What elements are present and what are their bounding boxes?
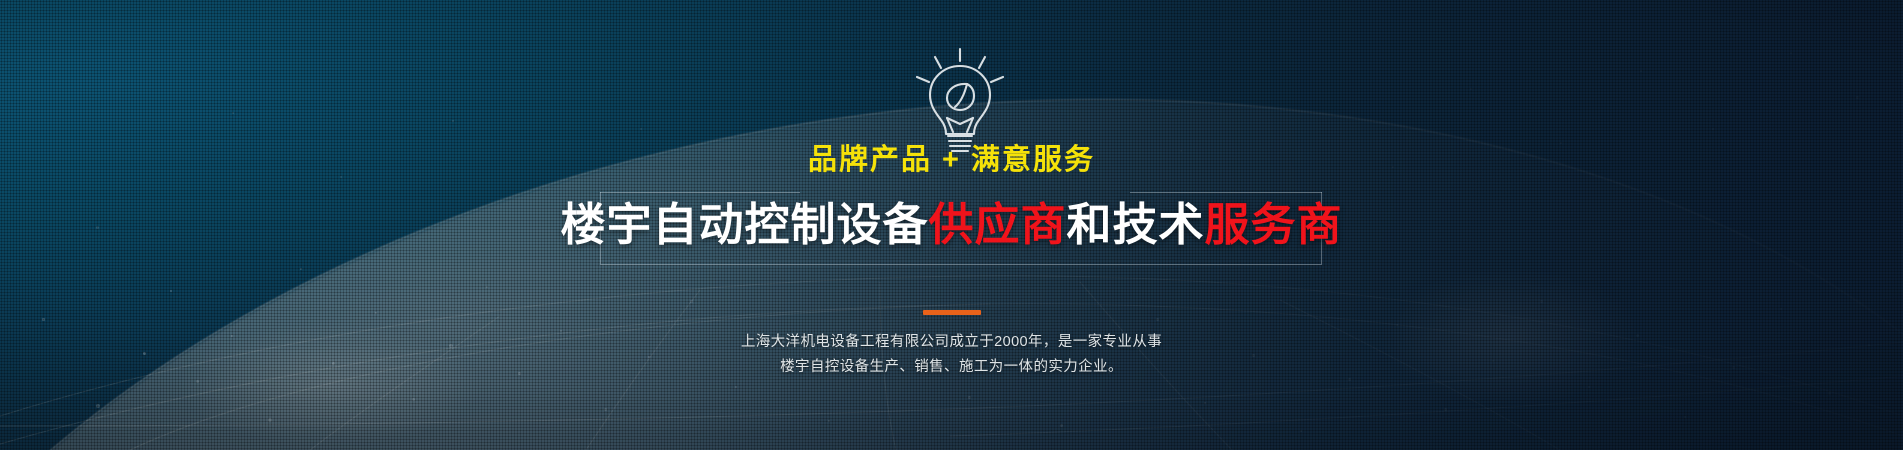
headline-part-1: 楼宇自动控制设备 — [560, 199, 928, 250]
headline-part-4: 服务商 — [1205, 199, 1343, 250]
banner-description: 上海大洋机电设备工程有限公司成立于2000年，是一家专业从事 楼宇自控设备生产、… — [0, 330, 1903, 380]
description-line-2: 楼宇自控设备生产、销售、施工为一体的实力企业。 — [0, 355, 1903, 380]
orange-divider — [923, 310, 981, 315]
frame-top-left-segment — [600, 192, 800, 193]
headline-part-2: 供应商 — [928, 199, 1066, 250]
headline-part-3: 和技术 — [1067, 199, 1205, 250]
frame-top-right-segment — [1130, 192, 1322, 193]
banner-content: 品牌产品 + 满意服务 楼宇自动控制设备供应商和技术服务商 上海大洋机电设备工程… — [0, 0, 1903, 450]
description-line-1: 上海大洋机电设备工程有限公司成立于2000年，是一家专业从事 — [0, 330, 1903, 355]
star-particles: 品牌产品 + 满意服务 楼宇自动控制设备供应商和技术服务商 上海大洋机电设备工程… — [0, 0, 1903, 450]
lightbulb-icon — [905, 44, 1015, 156]
banner-tagline: 品牌产品 + 满意服务 — [0, 142, 1903, 178]
hero-banner: 品牌产品 + 满意服务 楼宇自动控制设备供应商和技术服务商 上海大洋机电设备工程… — [0, 0, 1903, 450]
banner-headline: 楼宇自动控制设备供应商和技术服务商 — [0, 196, 1903, 254]
